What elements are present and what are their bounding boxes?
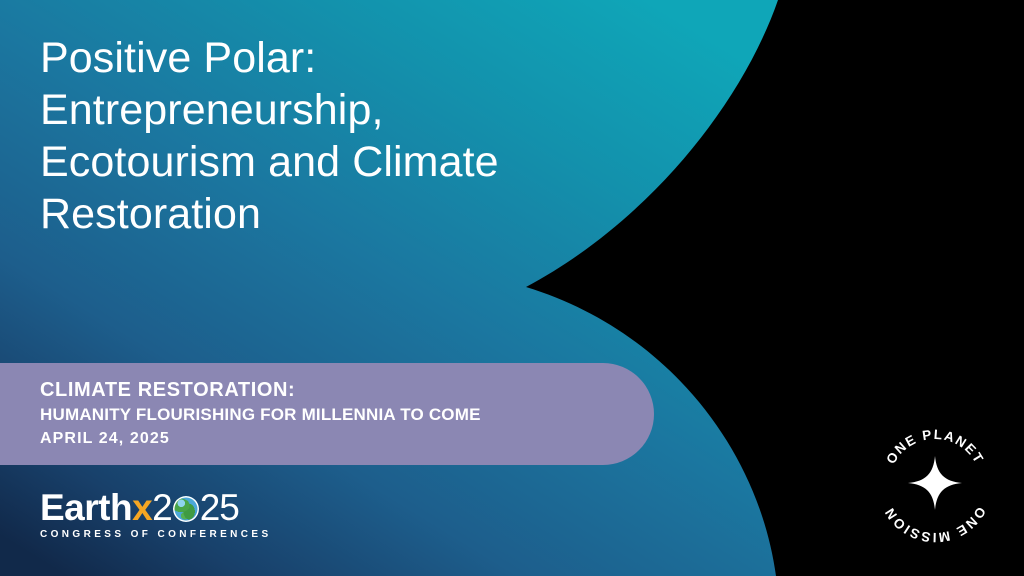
logo-wordmark: Earthx225 (40, 489, 272, 527)
slide-title: Positive Polar: Entrepreneurship, Ecotou… (40, 32, 600, 240)
badge-bottom-arc-label: ONE MISSION (881, 504, 988, 545)
logo-word-earth: Earth (40, 489, 132, 527)
logo-word-25: 25 (200, 489, 239, 527)
logo-word-2: 2 (152, 489, 172, 527)
banner-title: CLIMATE RESTORATION: (40, 377, 654, 403)
one-planet-one-mission-badge: ONE PLANET ONE MISSION (873, 423, 997, 547)
banner-subtitle: HUMANITY FLOURISHING FOR MILLENNIA TO CO… (40, 403, 654, 427)
badge-bottom-arc-text: ONE MISSION (881, 504, 988, 545)
four-point-star-icon (908, 456, 962, 510)
slide-canvas: Positive Polar: Entrepreneurship, Ecotou… (0, 0, 1024, 576)
event-banner: CLIMATE RESTORATION: HUMANITY FLOURISHIN… (0, 363, 654, 465)
banner-date: APRIL 24, 2025 (40, 427, 654, 451)
globe-icon (173, 496, 199, 522)
logo-tagline: CONGRESS OF CONFERENCES (40, 529, 272, 540)
earthx-logo: Earthx225 CONGRESS OF CONFERENCES (40, 489, 272, 540)
logo-word-x: x (132, 489, 152, 527)
